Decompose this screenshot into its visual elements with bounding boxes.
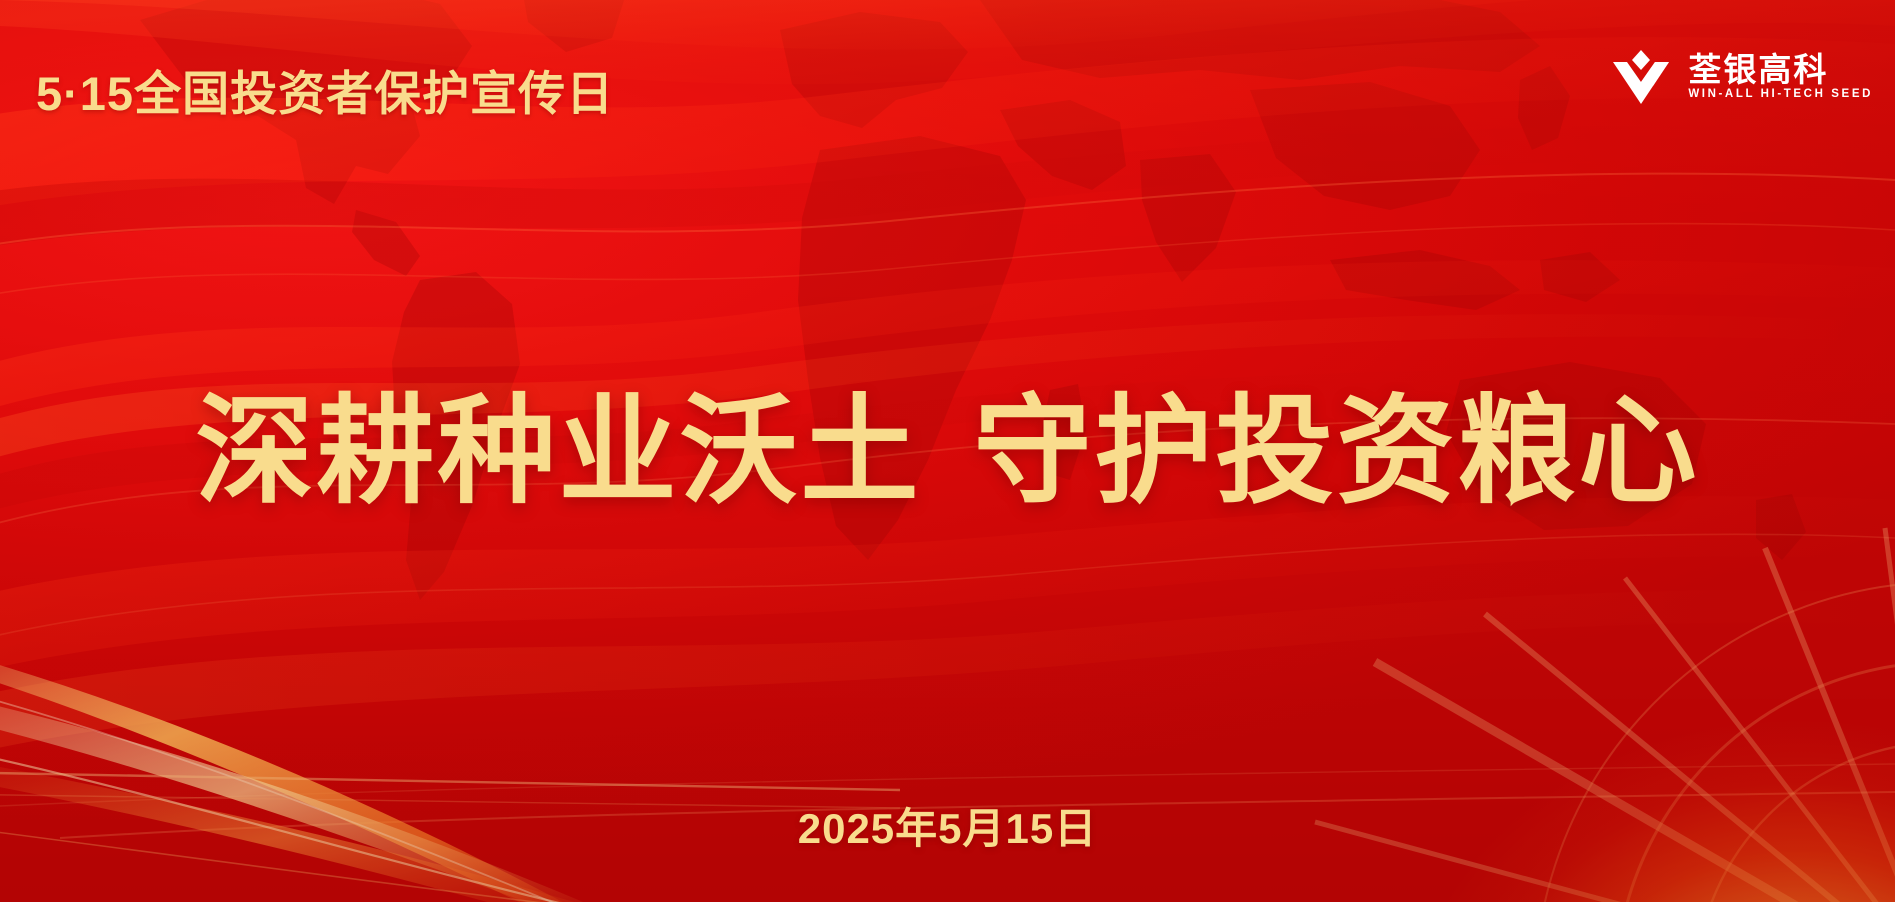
main-headline: 深耕种业沃土守护投资粮心 bbox=[0, 355, 1895, 526]
campaign-kicker-text: 5·15全国投资者保护宣传日 bbox=[36, 55, 614, 124]
company-logo[interactable]: 荃银高科 WIN-ALL HI-TECH SEED bbox=[1610, 48, 1873, 106]
logo-wordmark: 荃银高科 WIN-ALL HI-TECH SEED bbox=[1688, 53, 1873, 101]
event-date: 2025年5月15日 bbox=[0, 795, 1895, 856]
headline-part-2: 守护投资粮心 bbox=[974, 386, 1700, 518]
logo-company-name-en: WIN-ALL HI-TECH SEED bbox=[1688, 89, 1873, 101]
logo-company-name-cn: 荃银高科 bbox=[1688, 53, 1873, 86]
headline-part-1: 深耕种业沃土 bbox=[195, 386, 921, 518]
investor-protection-banner: 5·15全国投资者保护宣传日 荃银高科 WIN-ALL HI-TECH SEED… bbox=[0, 0, 1895, 902]
win-all-chevron-diamond-icon bbox=[1610, 48, 1672, 106]
